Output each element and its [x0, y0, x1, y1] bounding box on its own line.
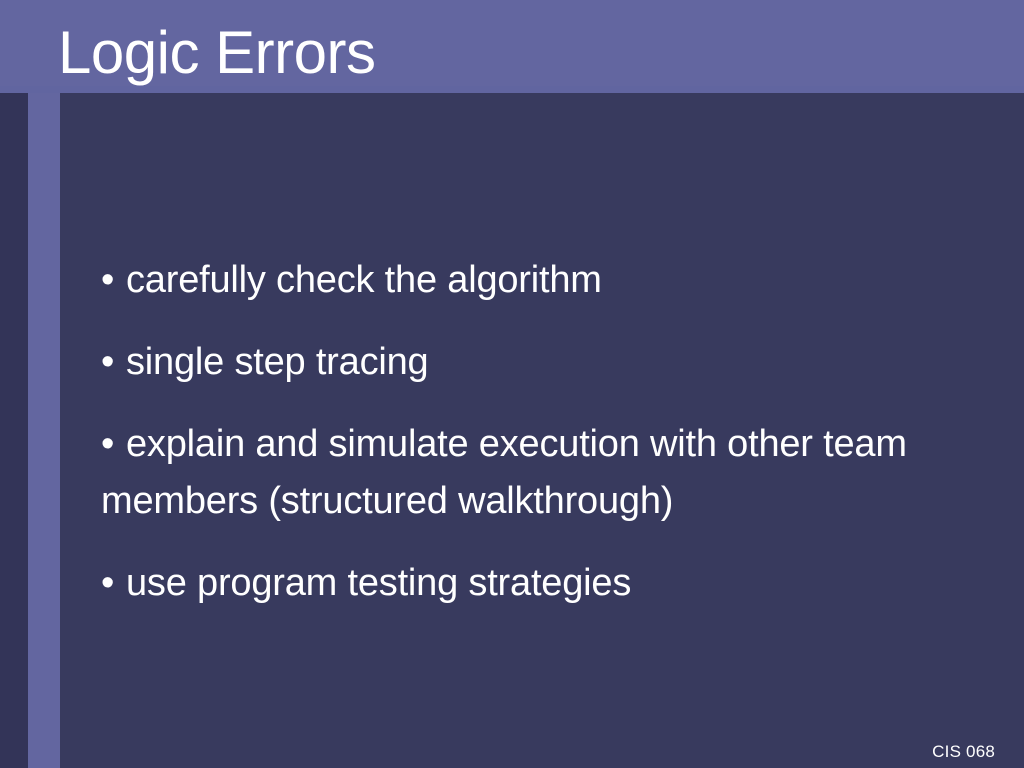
- bullet-item: •explain and simulate execution with oth…: [101, 416, 991, 530]
- bullet-dot-icon: •: [101, 416, 126, 473]
- left-accent-bar-decoration: [28, 93, 60, 768]
- bullet-item-text: use program testing strategies: [126, 562, 631, 604]
- bullet-item: •single step tracing: [101, 334, 991, 391]
- bullet-item-text: single step tracing: [126, 341, 428, 383]
- bullet-dot-icon: •: [101, 334, 126, 391]
- bullet-item-text: carefully check the algorithm: [126, 259, 602, 301]
- bullet-dot-icon: •: [101, 555, 126, 612]
- bullet-item: •use program testing strategies: [101, 555, 991, 612]
- slide-footer-course-code: CIS 068: [932, 742, 995, 762]
- bullet-item-text: explain and simulate execution with othe…: [101, 423, 907, 522]
- bullet-item: •carefully check the algorithm: [101, 252, 991, 309]
- presentation-slide: Logic Errors •carefully check the algori…: [0, 0, 1024, 768]
- slide-title: Logic Errors: [58, 14, 958, 92]
- bullet-dot-icon: •: [101, 252, 126, 309]
- left-dark-strip-decoration: [0, 93, 28, 768]
- slide-bullet-list: •carefully check the algorithm •single s…: [101, 252, 991, 612]
